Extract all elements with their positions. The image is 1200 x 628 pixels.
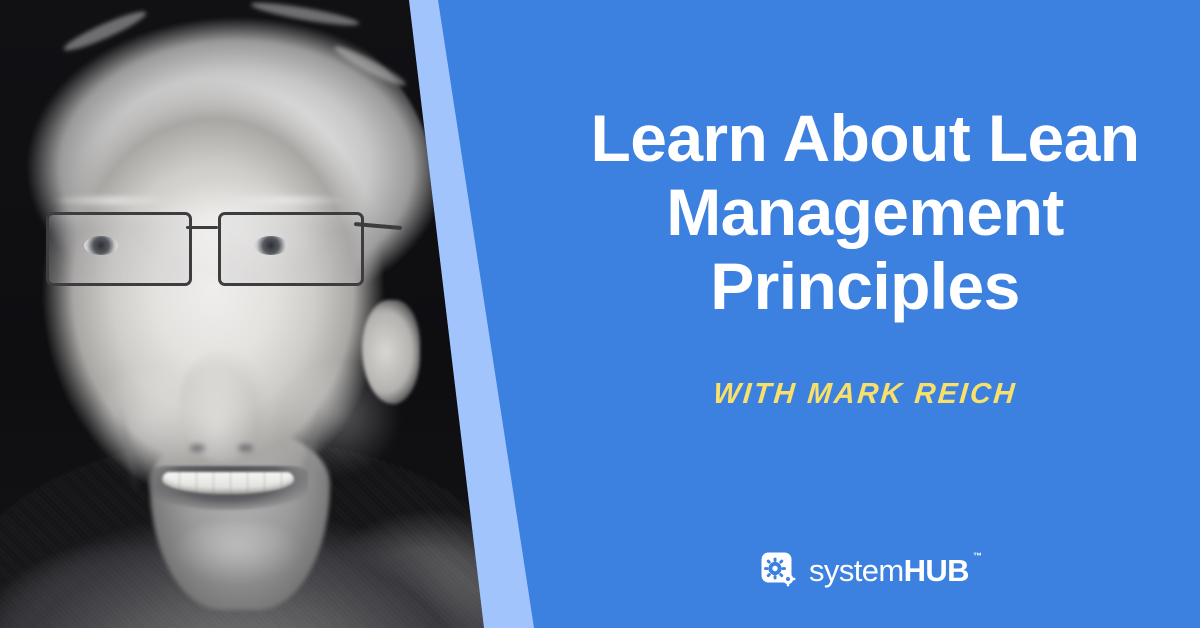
systemhub-wordmark: systemHUB ™ [809, 555, 969, 586]
glasses-lens-left [46, 212, 192, 286]
title-line-3: Principles [530, 250, 1200, 324]
content-area: Learn About Lean Management Principles W… [530, 0, 1200, 628]
title-line-1: Learn About Lean [530, 102, 1200, 176]
glasses-lens-right [218, 212, 364, 286]
systemhub-logo: systemHUB ™ [530, 552, 1200, 589]
logo-word-system: system [809, 553, 904, 588]
eye-left [84, 236, 118, 255]
eyeglasses-icon [36, 212, 396, 292]
promo-banner: Learn About Lean Management Principles W… [0, 0, 1200, 628]
trademark-symbol: ™ [973, 552, 982, 561]
systemhub-gear-icon [761, 552, 798, 589]
page-title: Learn About Lean Management Principles [530, 102, 1200, 324]
chin-highlight [172, 522, 302, 584]
mouth-shape [148, 466, 308, 510]
eye-right [254, 236, 288, 255]
nostril-left [190, 444, 205, 452]
eyebrow-right [226, 194, 346, 207]
title-line-2: Management [530, 176, 1200, 250]
face-shape [30, 70, 420, 530]
nose-shape [180, 352, 266, 462]
glasses-bridge [186, 226, 218, 229]
subtitle-presenter: WITH MARK REICH [529, 378, 1200, 411]
eyebrow-left [52, 194, 172, 207]
nostril-right [238, 444, 253, 452]
ear-shape [362, 300, 420, 404]
teeth-shape [162, 472, 294, 494]
logo-word-hub: HUB [904, 553, 969, 588]
